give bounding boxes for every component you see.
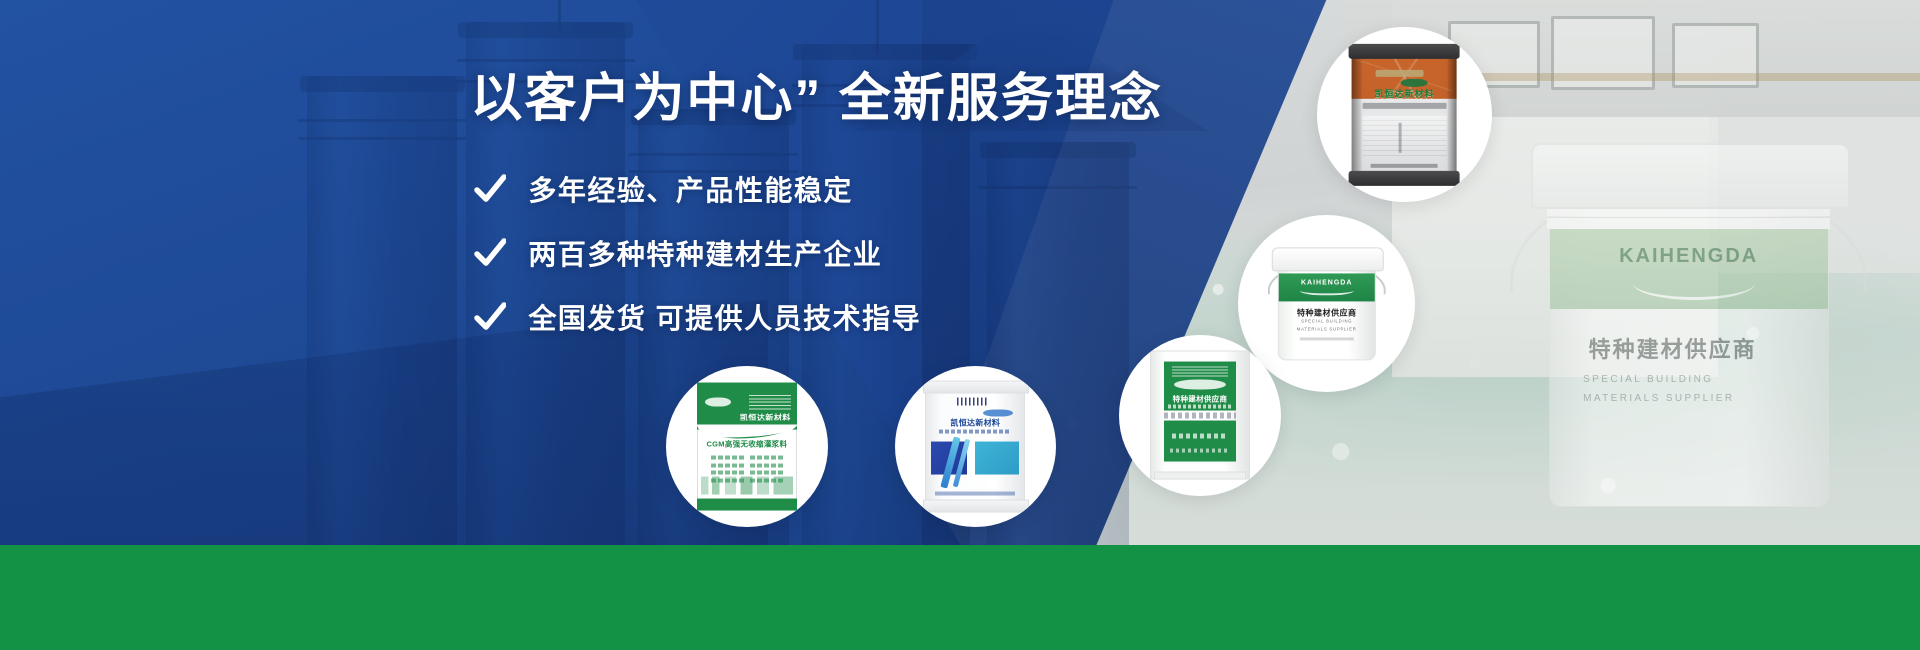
brand-logo-icon	[983, 409, 1013, 417]
white-green-bucket: KAIHENGDA 特种建材供应商 SPECIAL BUILDING MATER…	[1275, 247, 1377, 360]
bucket-subtitle-line1: SPECIAL BUILDING	[1583, 370, 1800, 389]
green-white-sack: 特种建材供应商	[1150, 351, 1250, 480]
product-circle-green-sack[interactable]: 凯恒达新材料 CGM高强无收缩灌浆料	[666, 366, 827, 527]
product-circle-white-sack[interactable]: 特种建材供应商	[1119, 335, 1280, 496]
list-item: 两百多种特种建材生产企业	[474, 233, 1162, 273]
promo-banner: KAIHENGDA 特种建材供应商 SPECIAL BUILDING MATER…	[0, 0, 1920, 650]
subtitle-line1: SPECIAL BUILDING	[1301, 318, 1352, 325]
bucket-lid	[1531, 143, 1850, 209]
blue-white-sack: 凯恒达新材料	[925, 382, 1025, 511]
product-circle-orange-sack[interactable]: 凯恒达新材料	[1317, 27, 1492, 202]
product-subtitle-en: SPECIAL BUILDING MATERIALS SUPPLIER	[1288, 320, 1365, 330]
green-bottom-band	[0, 545, 1920, 650]
bucket-body: KAIHENGDA 特种建材供应商 SPECIAL BUILDING MATER…	[1549, 198, 1829, 507]
feature-list: 多年经验、产品性能稳定 两百多种特种建材生产企业 全国发货 可提供人员技术指导	[474, 169, 1162, 337]
product-circle-blue-sack[interactable]: 凯恒达新材料	[895, 366, 1056, 527]
product-title-cn: 特种建材供应商	[1284, 308, 1369, 317]
brand-logo-icon	[1174, 379, 1226, 389]
background-bucket-large: KAIHENGDA 特种建材供应商 SPECIAL BUILDING MATER…	[1540, 143, 1838, 507]
product-brand-cn: 凯恒达新材料	[933, 418, 1017, 428]
product-title-cn: 特种建材供应商	[1164, 393, 1236, 403]
list-item-label: 多年经验、产品性能稳定	[528, 169, 853, 209]
orange-kraft-sack: 凯恒达新材料	[1352, 47, 1457, 183]
skyline-graphic	[701, 476, 793, 494]
bucket-subtitle-en: SPECIAL BUILDING MATERIALS SUPPLIER	[1583, 368, 1800, 411]
bucket-swoosh-icon	[1633, 266, 1755, 300]
barcode-icon	[957, 398, 989, 406]
bucket-title-cn: 特种建材供应商	[1566, 334, 1810, 362]
check-icon	[474, 173, 506, 205]
list-item: 多年经验、产品性能稳定	[474, 169, 1162, 209]
silo	[307, 76, 457, 546]
banner-copy: 以客户为中心” 全新服务理念 多年经验、产品性能稳定 两百多种特种建材生产企业 …	[470, 72, 1162, 361]
list-item: 全国发货 可提供人员技术指导	[474, 297, 1162, 337]
product-brand-cn: 凯恒达新材料	[1360, 88, 1448, 99]
product-circle-bucket[interactable]: KAIHENGDA 特种建材供应商 SPECIAL BUILDING MATER…	[1238, 215, 1415, 392]
check-icon	[474, 301, 506, 333]
green-grout-sack: 凯恒达新材料 CGM高强无收缩灌浆料	[697, 382, 797, 511]
list-item-label: 全国发货 可提供人员技术指导	[528, 297, 921, 337]
subtitle-line2: MATERIALS SUPPLIER	[1297, 325, 1357, 332]
brand-swoosh-icon	[1300, 286, 1354, 295]
bucket-subtitle-line2: MATERIALS SUPPLIER	[1583, 389, 1800, 408]
bucket-lid	[1271, 247, 1384, 272]
list-item-label: 两百多种特种建材生产企业	[528, 233, 882, 273]
page-title: 以客户为中心” 全新服务理念	[470, 72, 1162, 127]
product-name-cn: CGM高强无收缩灌浆料	[705, 439, 789, 449]
check-icon	[474, 237, 506, 269]
